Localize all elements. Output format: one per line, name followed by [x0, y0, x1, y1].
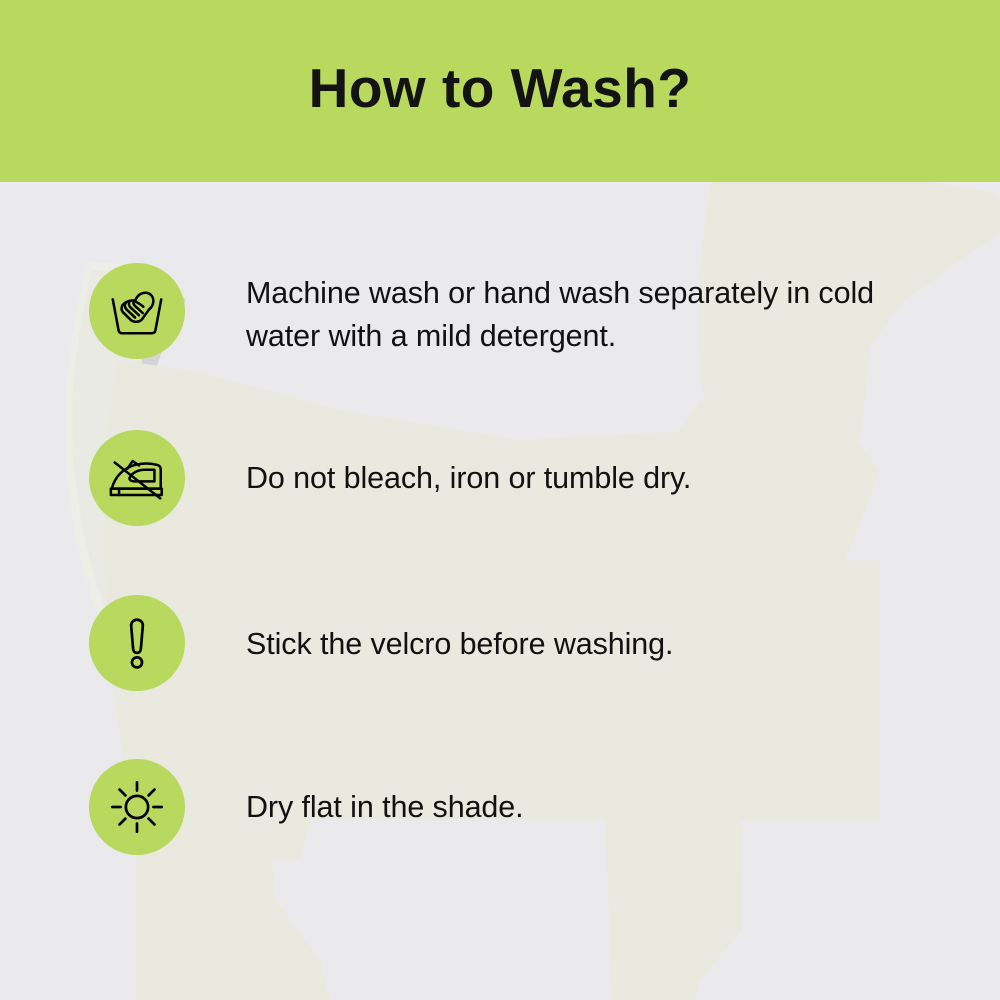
hand-wash-basin-icon-badge: [89, 263, 185, 359]
do-not-iron-icon: [106, 447, 168, 509]
instruction-text: Dry flat in the shade.: [246, 786, 906, 829]
exclamation-mark-icon: [106, 612, 168, 674]
page-title: How to Wash?: [309, 61, 692, 122]
sun-dry-icon-badge: [89, 759, 185, 855]
how-to-wash-card: How to Wash?: [0, 0, 1000, 1000]
exclamation-mark-icon-badge: [89, 595, 185, 691]
instruction-text: Stick the velcro before washing.: [246, 623, 906, 666]
instruction-text: Do not bleach, iron or tumble dry.: [246, 457, 906, 500]
instruction-text: Machine wash or hand wash separately in …: [246, 272, 906, 358]
header-band: How to Wash?: [0, 0, 1000, 182]
hand-wash-basin-icon: [106, 280, 168, 342]
do-not-iron-icon-badge: [89, 430, 185, 526]
sun-dry-icon: [106, 776, 168, 838]
instructions-list: Machine wash or hand wash separately in …: [0, 182, 1000, 1000]
